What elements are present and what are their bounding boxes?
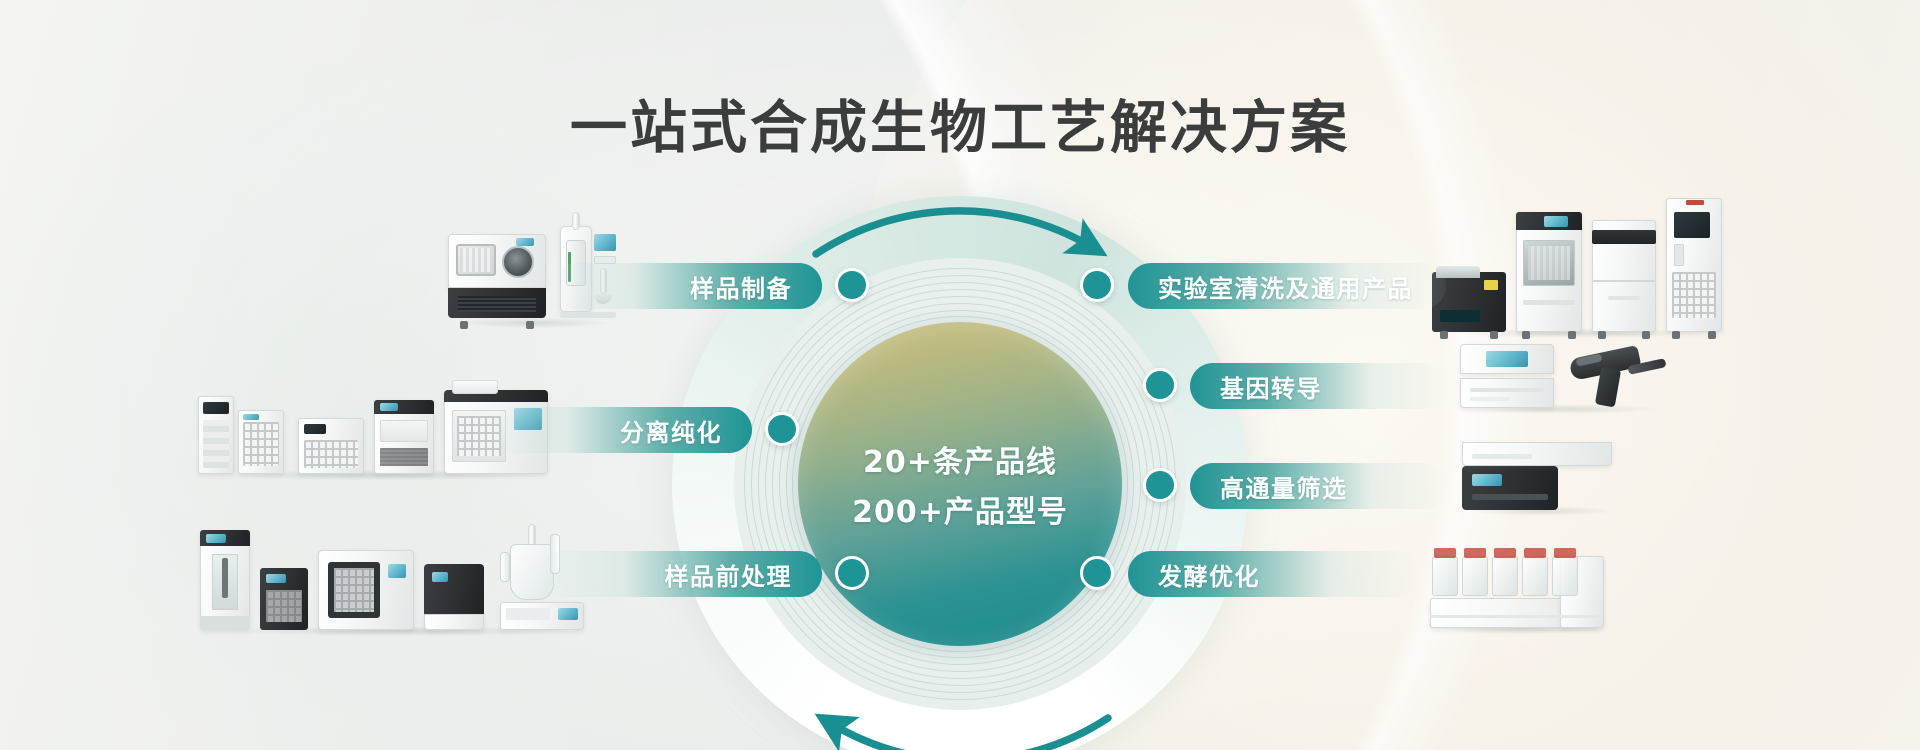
node-separation-purification[interactable] — [765, 412, 799, 446]
branch-label-high-throughput-screening[interactable]: 高通量筛选 — [1190, 463, 1448, 509]
fraction-collector-icon — [298, 418, 364, 474]
hub-rotation-arrows — [638, 162, 1282, 750]
branch-label-text: 基因转导 — [1220, 369, 1322, 404]
node-lab-cleaning-general[interactable] — [1080, 268, 1114, 302]
glassware-washer-icon — [1516, 212, 1582, 332]
parallel-bioreactor-array-icon — [1430, 524, 1610, 628]
equipment-group-high-throughput-screening — [1462, 442, 1622, 510]
branch-label-text: 样品制备 — [690, 269, 792, 304]
tissue-grinder-icon — [260, 568, 308, 630]
pure-water-system-icon — [1666, 198, 1722, 332]
arrow-top-clockwise — [816, 211, 1090, 254]
bench-analyzer-icon — [424, 564, 484, 630]
microplate-reader-icon — [1462, 466, 1558, 510]
chromatography-system-icon — [198, 396, 284, 474]
branch-label-sample-preparation[interactable]: 样品制备 — [552, 263, 822, 309]
branch-label-text: 分离纯化 — [620, 413, 722, 448]
branch-label-separation-purification[interactable]: 分离纯化 — [490, 407, 752, 453]
branch-label-gene-transduction[interactable]: 基因转导 — [1190, 363, 1448, 409]
branch-label-sample-pretreatment[interactable]: 样品前处理 — [540, 551, 822, 597]
preparative-hplc-icon — [374, 400, 434, 474]
lab-dishwasher-icon — [1592, 220, 1656, 332]
equipment-group-gene-transduction — [1460, 340, 1670, 408]
page-title: 一站式合成生物工艺解决方案 — [0, 82, 1920, 164]
transfection-gun-icon — [1570, 346, 1670, 408]
node-sample-preparation[interactable] — [835, 268, 869, 302]
branch-label-text: 发酵优化 — [1158, 557, 1260, 592]
node-fermentation-optimization[interactable] — [1080, 556, 1114, 590]
branch-label-text: 实验室清洗及通用产品 — [1158, 269, 1413, 304]
node-sample-pretreatment[interactable] — [835, 556, 869, 590]
node-gene-transduction[interactable] — [1143, 368, 1177, 402]
plate-stacker-icon — [1462, 442, 1612, 466]
electroporator-icon — [1460, 344, 1554, 408]
branch-label-text: 高通量筛选 — [1220, 469, 1348, 504]
node-high-throughput-screening[interactable] — [1143, 468, 1177, 502]
branch-label-text: 样品前处理 — [665, 557, 793, 592]
microwave-digester-icon — [318, 550, 414, 630]
branch-label-lab-cleaning-general[interactable]: 实验室清洗及通用产品 — [1128, 263, 1446, 309]
freeze-dryer-icon — [448, 234, 546, 322]
arrow-bottom-clockwise — [832, 718, 1108, 750]
branch-label-fermentation-optimization[interactable]: 发酵优化 — [1128, 551, 1418, 597]
equipment-group-lab-cleaning-general — [1432, 198, 1722, 332]
equipment-group-fermentation-optimization — [1430, 524, 1610, 628]
ultrasonic-homogenizer-icon — [200, 530, 250, 630]
